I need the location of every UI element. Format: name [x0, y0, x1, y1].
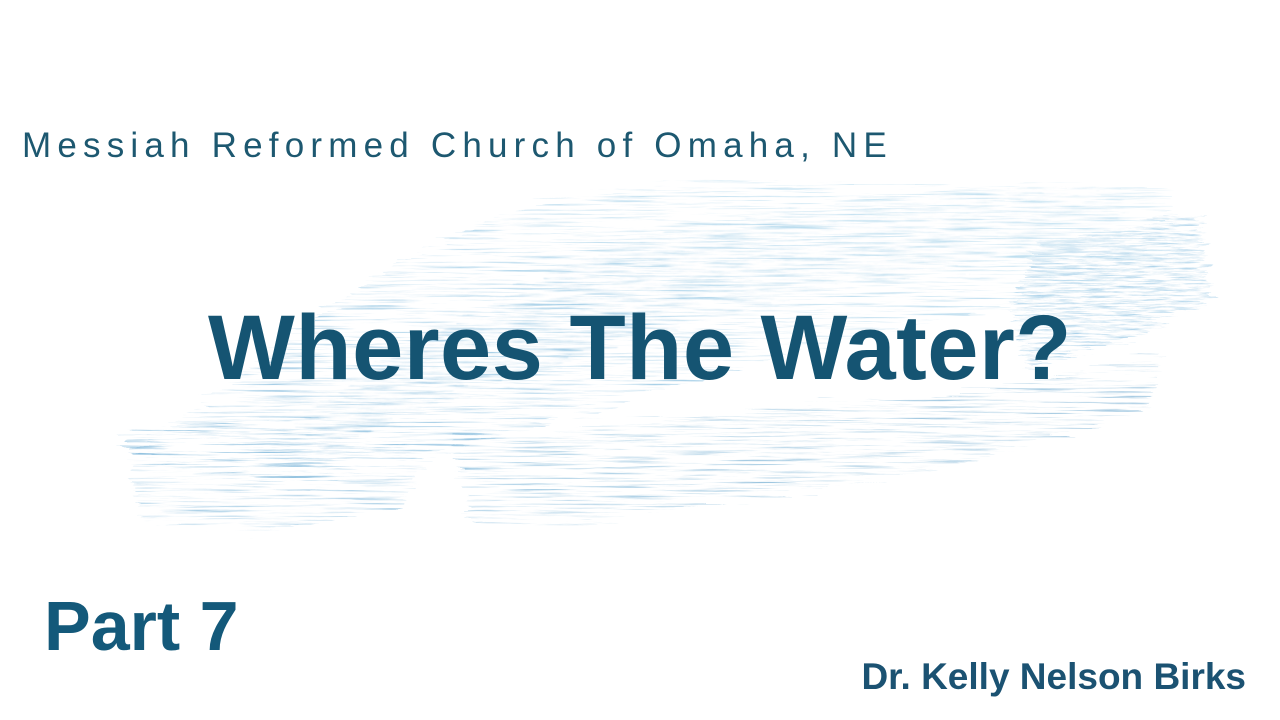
speaker-name: Dr. Kelly Nelson Birks: [861, 654, 1246, 700]
series-title: Wheres The Water?: [0, 296, 1280, 400]
part-label: Part 7: [44, 583, 239, 669]
church-name: Messiah Reformed Church of Omaha, NE: [22, 123, 893, 169]
sermon-title-slide: Messiah Reformed Church of Omaha, NE Whe…: [0, 0, 1280, 720]
brush-left-taper: [126, 420, 430, 532]
